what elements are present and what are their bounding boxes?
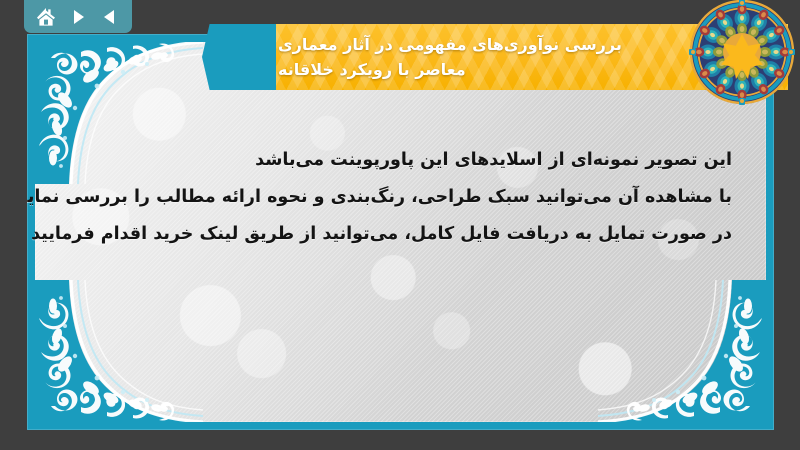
body-line-2: با مشاهده آن می‌توانید سبک طراحی، رنگ‌بن… — [92, 179, 732, 216]
previous-slide-button[interactable] — [97, 4, 123, 30]
next-slide-button[interactable] — [65, 4, 91, 30]
home-icon — [35, 6, 57, 28]
body-line-1: این تصویر نمونه‌ای از اسلایدهای این پاور… — [92, 142, 732, 179]
islamic-mandala-medallion-icon — [688, 0, 796, 106]
ribbon-arrow-shape — [202, 24, 278, 90]
slide-body-text: این تصویر نمونه‌ای از اسلایدهای این پاور… — [92, 142, 732, 253]
title-line-1: بررسی نوآوری‌های مفهومی در آثار معماری — [278, 32, 622, 57]
home-button[interactable] — [33, 4, 59, 30]
title-line-2: معاصر با رویکرد خلاقانه — [278, 57, 466, 82]
slide-navigation-bar — [24, 0, 132, 33]
triangle-right-icon — [68, 7, 88, 27]
slide-frame: این تصویر نمونه‌ای از اسلایدهای این پاور… — [27, 34, 774, 430]
triangle-left-icon — [100, 7, 120, 27]
presentation-viewer: این تصویر نمونه‌ای از اسلایدهای این پاور… — [0, 0, 800, 450]
body-line-3: در صورت تمایل به دریافت فایل کامل، می‌تو… — [92, 216, 732, 253]
arabesque-corner-ornament-icon — [598, 280, 766, 422]
slide-canvas: این تصویر نمونه‌ای از اسلایدهای این پاور… — [35, 42, 766, 422]
arabesque-corner-ornament-icon — [35, 280, 203, 422]
